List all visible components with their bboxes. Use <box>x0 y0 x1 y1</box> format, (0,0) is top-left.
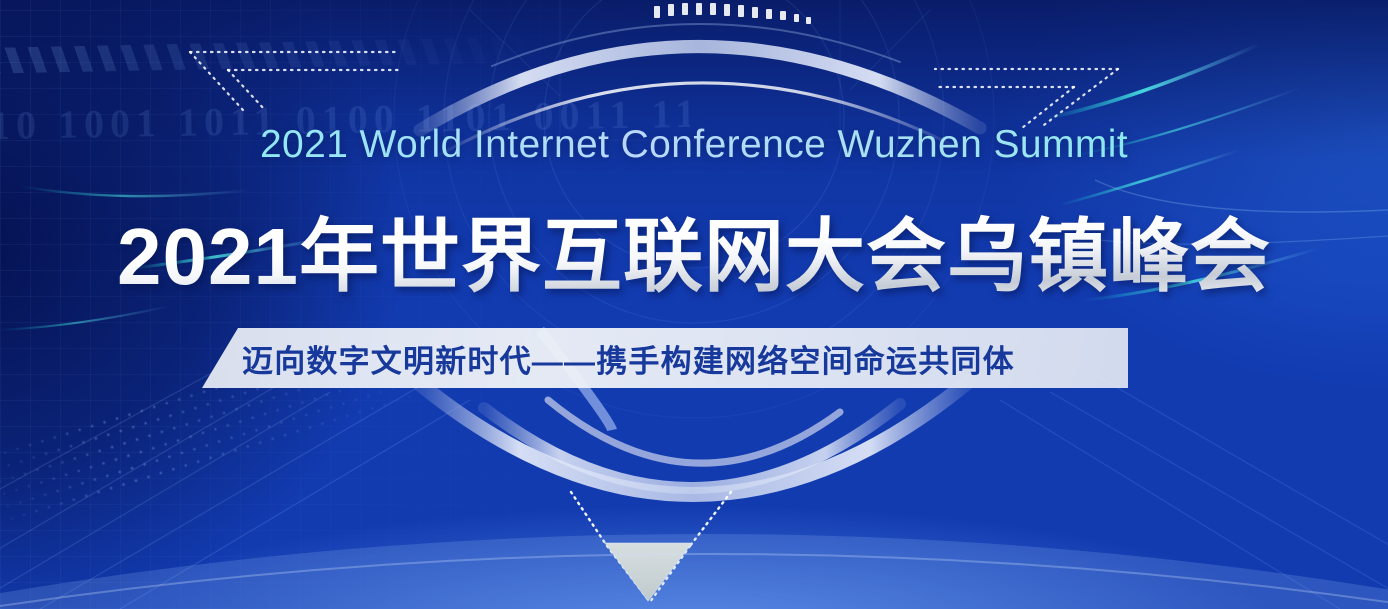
conference-banner: 10 1001 1011 0100 1101 0011 1100 01 <box>0 0 1388 609</box>
conference-subtitle-banner: 迈向数字文明新时代——携手构建网络空间命运共同体 <box>202 328 1128 388</box>
banner-content: 2021 World Internet Conference Wuzhen Su… <box>0 0 1388 609</box>
conference-subtitle-text: 迈向数字文明新时代——携手构建网络空间命运共同体 <box>202 328 1128 388</box>
conference-title-english: 2021 World Internet Conference Wuzhen Su… <box>0 123 1388 167</box>
conference-title-chinese: 2021年世界互联网大会乌镇峰会 <box>0 192 1388 308</box>
